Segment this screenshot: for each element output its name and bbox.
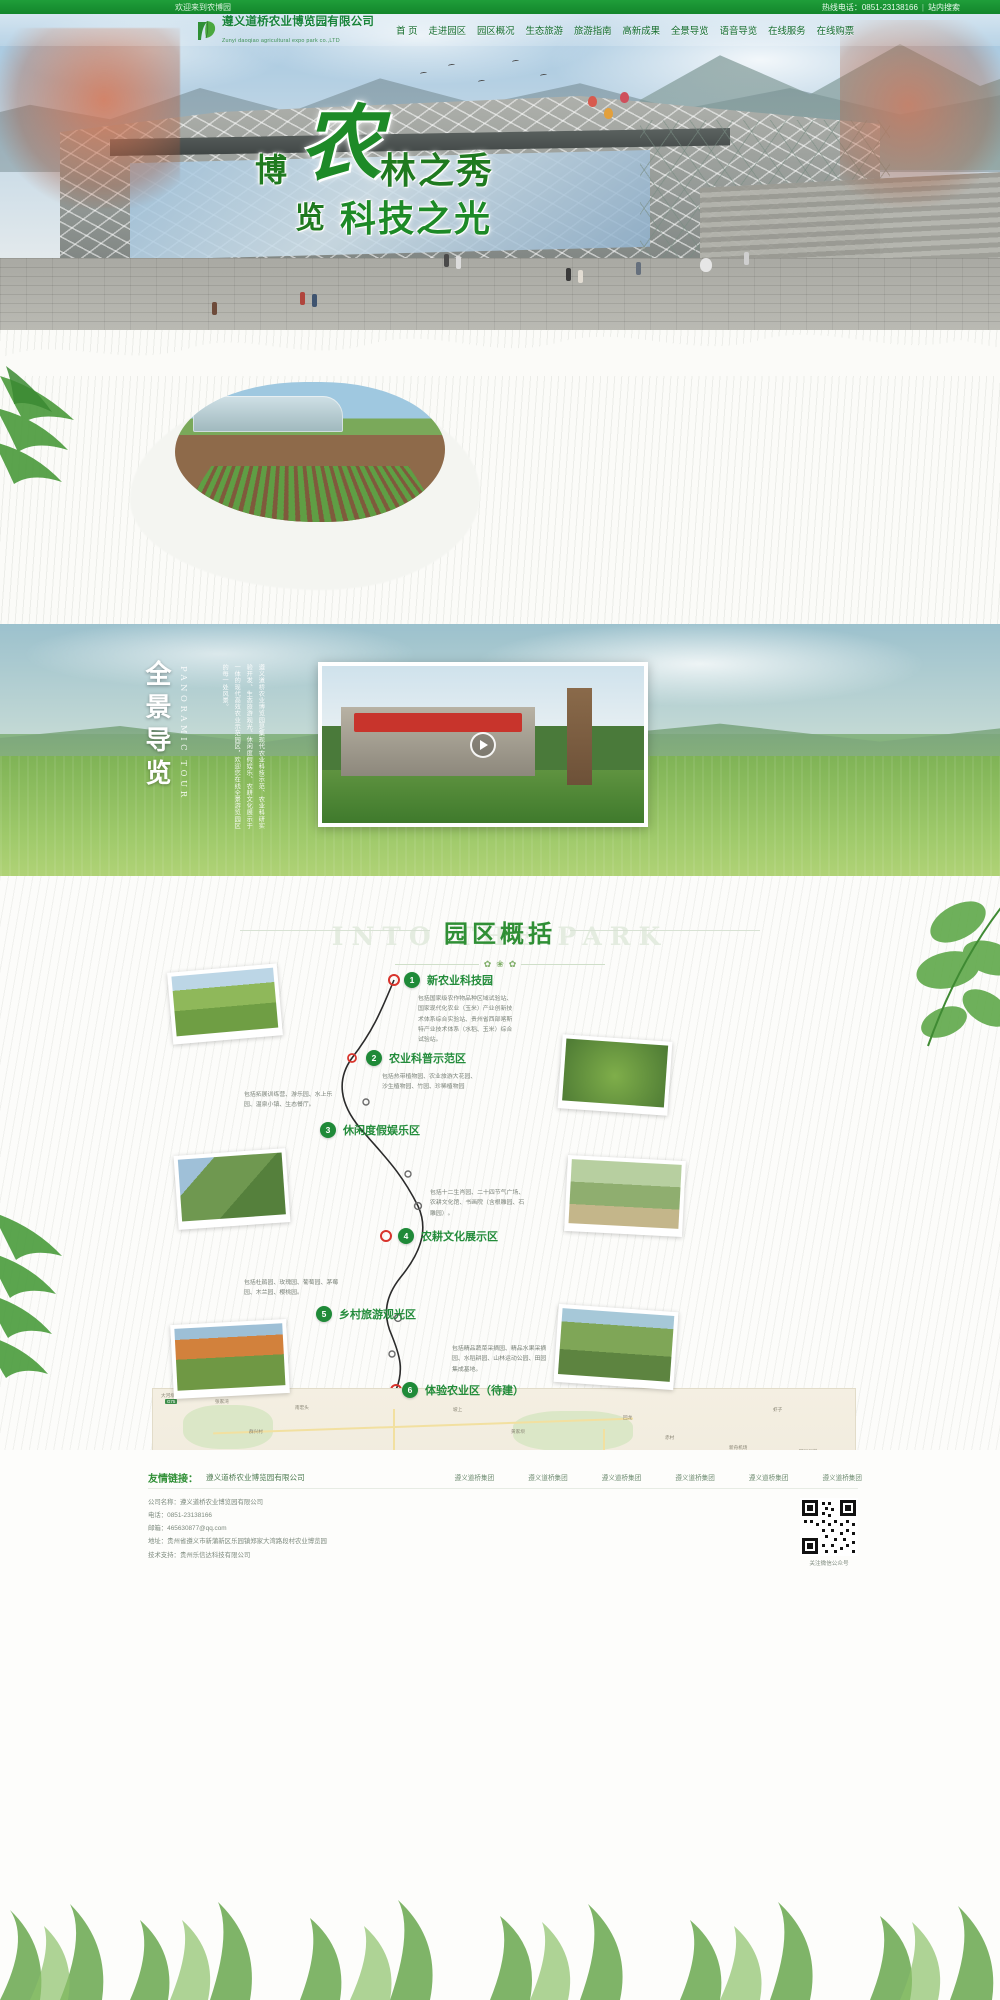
zone-photo-5[interactable]	[170, 1319, 290, 1399]
zone-name-1: 新农业科技园	[427, 972, 493, 988]
zone-number-badge: 2	[366, 1050, 382, 1066]
zone-node-5[interactable]: 5 乡村旅游观光区	[316, 1306, 416, 1322]
site-header: 遵义道桥农业博览园有限公司 Zunyi daoqiao agricultural…	[0, 14, 1000, 46]
visitor-figure	[636, 262, 641, 275]
zone-node-4[interactable]: 4 农耕文化展示区	[398, 1228, 498, 1244]
friendly-links-list: 遵义道桥集团 遵义道桥集团 遵义道桥集团 遵义道桥集团 遵义道桥集团 遵义道桥集…	[148, 1472, 862, 1482]
zone-number-badge: 3	[320, 1122, 336, 1138]
zone-name-5: 乡村旅游观光区	[339, 1306, 416, 1322]
panoramic-title-en: PANORAMIC TOUR	[179, 666, 189, 801]
zone-name-6: 体验农业区（待建）	[425, 1382, 524, 1398]
zone-number-badge: 5	[316, 1306, 332, 1322]
balloon-icon	[588, 96, 597, 107]
topbar-separator: |	[922, 3, 924, 12]
balloon-icon	[620, 92, 629, 103]
nav-item-panoramic[interactable]: 全景导览	[671, 23, 709, 37]
wechat-qr-block: 关注微信公众号	[800, 1498, 858, 1567]
zone-node-6[interactable]: 6 体验农业区（待建）	[402, 1382, 524, 1398]
zone-photo-3[interactable]	[174, 1148, 291, 1230]
footer-info-company: 公司名称：遵义道桥农业博览园有限公司	[148, 1496, 327, 1509]
logo-title-cn: 遵义道桥农业博览园有限公司	[222, 16, 374, 28]
balloon-icon	[604, 108, 613, 119]
friendly-link-5[interactable]: 遵义道桥集团	[749, 1472, 789, 1482]
nav-item-overview[interactable]: 园区概况	[477, 23, 515, 37]
video-red-signboard	[354, 713, 521, 732]
visitor-figure	[312, 294, 317, 307]
footer-divider	[148, 1488, 858, 1489]
hotline-text: 热线电话：0851-23138166	[822, 2, 918, 13]
zone-desc-5: 包括杜鹃园、玫瑰园、葡萄园、茅莓园、木兰园、樱桃园。	[244, 1278, 340, 1299]
nav-item-into-park[interactable]: 走进园区	[428, 23, 466, 37]
nav-item-buy-ticket[interactable]: 在线购票	[817, 23, 855, 37]
map-green-area	[183, 1405, 273, 1449]
friendly-link-3[interactable]: 遵义道桥集团	[602, 1472, 642, 1482]
zone-number-badge: 1	[404, 972, 420, 988]
torn-paper-edge-top	[0, 328, 1000, 376]
visitor-figure	[566, 268, 571, 281]
zone-node-2[interactable]: 2 农业科普示范区	[366, 1050, 466, 1066]
zone-photo-2[interactable]	[558, 1034, 673, 1115]
friendly-link-2[interactable]: 遵义道桥集团	[528, 1472, 568, 1482]
bamboo-grass-decoration	[0, 1890, 1000, 2000]
fern-leaf-decoration-left	[0, 364, 124, 504]
autumn-tree-left	[0, 28, 180, 208]
topbar-right-group: 热线电话：0851-23138166 | 站内搜索	[822, 2, 960, 13]
crop-rows	[175, 466, 445, 522]
photo-image	[178, 1152, 286, 1221]
friendly-link-4[interactable]: 遵义道桥集团	[675, 1472, 715, 1482]
zone-number-badge: 6	[402, 1382, 418, 1398]
photo-image	[174, 1323, 285, 1391]
map-green-area	[513, 1411, 633, 1451]
play-icon[interactable]	[470, 732, 496, 758]
zone-name-3: 休闲度假娱乐区	[343, 1122, 420, 1138]
photo-image	[569, 1159, 682, 1229]
site-footer: 友情链接： 遵义道桥农业博览园有限公司 遵义道桥集团 遵义道桥集团 遵义道桥集团…	[0, 1450, 1000, 2000]
qr-caption: 关注微信公众号	[800, 1559, 858, 1567]
page-root: 博 农 林之秀 览 科技之光 Bo nonglin show to see th…	[0, 0, 1000, 2000]
nav-item-travel-guide[interactable]: 旅游指南	[574, 23, 612, 37]
balloon-icon	[700, 258, 712, 272]
friendly-link-1[interactable]: 遵义道桥集团	[455, 1472, 495, 1482]
nav-item-online-service[interactable]: 在线服务	[768, 23, 806, 37]
panoramic-intro-text: 遵义道桥农业博览园是集现代农业科技示范、农业科研实验开发、生态旅游观光、休闲度假…	[218, 664, 266, 834]
welcome-text: 欢迎来到农博园	[175, 2, 231, 13]
footer-info-address: 地址：贵州省遵义市新蒲新区乐园镇郑家大湾路段村农业博览园	[148, 1535, 327, 1548]
panoramic-title-cn: 全景导览	[138, 660, 175, 801]
footer-info-support: 技术支持：贵州乐信达科技有限公司	[148, 1549, 327, 1562]
visitor-figure	[300, 292, 305, 305]
video-foreground-green	[322, 770, 644, 823]
footer-contact-info: 公司名称：遵义道桥农业博览园有限公司 电话：0851-23138166 邮箱：4…	[148, 1496, 327, 1562]
zone-desc-4: 包括十二生肖园、二十四节气广场、农耕文化馆、书画院（含根雕园、石雕园）。	[430, 1188, 526, 1219]
fern-decoration-left	[0, 1206, 108, 1396]
visitor-figure	[212, 302, 217, 315]
hero-banner	[0, 0, 1000, 340]
visitor-figure	[744, 252, 749, 265]
photo-image	[171, 968, 278, 1037]
zone-desc-6: 包括精品蔬菜采摘园、精品水果采摘园、水稻耕园、山林运动公园、田园集成基地。	[452, 1344, 548, 1375]
leaf-logo-icon	[196, 18, 218, 42]
zone-photo-4[interactable]	[564, 1155, 686, 1237]
video-tower	[567, 688, 593, 785]
logo[interactable]: 遵义道桥农业博览园有限公司 Zunyi daoqiao agricultural…	[196, 13, 374, 47]
building-glass-facade	[130, 150, 650, 260]
panoramic-title-group: 全景导览 PANORAMIC TOUR	[138, 660, 189, 801]
zone-name-2: 农业科普示范区	[389, 1050, 466, 1066]
zone-node-3[interactable]: 3 休闲度假娱乐区	[320, 1122, 420, 1138]
logo-title-en: Zunyi daoqiao agricultural expo park co.…	[222, 38, 340, 44]
nav-item-audio-guide[interactable]: 语音导览	[720, 23, 758, 37]
zone-number-badge: 4	[398, 1228, 414, 1244]
main-navigation: 首 页 走进园区 园区概况 生态旅游 旅游指南 高新成果 全景导览 语音导览 在…	[396, 23, 854, 37]
zone-desc-3: 包括拓展训练营、游乐园、水上乐园、温泉小镇、生态餐厅。	[244, 1090, 340, 1111]
panoramic-tour-section: 全景导览 PANORAMIC TOUR 遵义道桥农业博览园是集现代农业科技示范、…	[0, 624, 1000, 886]
zone-photo-1[interactable]	[167, 963, 283, 1044]
zone-desc-2: 包括热带植物园、农业旅游大花园、沙生植物园、竹园、珍稀植物园	[382, 1072, 478, 1093]
qr-code-icon	[800, 1498, 858, 1556]
greenhouse-structure	[193, 396, 343, 432]
visitor-figure	[456, 256, 461, 269]
zone-photo-6[interactable]	[553, 1304, 678, 1390]
zone-name-4: 农耕文化展示区	[421, 1228, 498, 1244]
footer-info-phone: 电话：0851-23138166	[148, 1509, 327, 1522]
top-utility-bar: 欢迎来到农博园 热线电话：0851-23138166 | 站内搜索	[0, 0, 1000, 14]
nav-item-eco-tourism[interactable]: 生态旅游	[526, 23, 564, 37]
autumn-tree-right	[840, 20, 1000, 210]
site-search-link[interactable]: 站内搜索	[928, 2, 960, 13]
nav-item-home[interactable]: 首 页	[396, 23, 417, 37]
panoramic-video-player[interactable]	[318, 662, 648, 827]
leaf-decoration-right	[840, 886, 1000, 1066]
footer-info-email: 邮箱：465630877@qq.com	[148, 1522, 327, 1535]
logo-text-group: 遵义道桥农业博览园有限公司 Zunyi daoqiao agricultural…	[222, 13, 374, 47]
visitor-figure	[578, 270, 583, 283]
visitor-figure	[444, 254, 449, 267]
photo-image	[562, 1039, 668, 1108]
greenhouse-photo	[175, 382, 445, 522]
map-highway-badge: G75	[165, 1399, 177, 1404]
into-park-section: 食 园区饭店 小吃街 住 园区酒店、宾馆 客栈、露营地 行	[0, 330, 1000, 630]
photo-image	[558, 1308, 674, 1382]
zone-node-1[interactable]: 1 新农业科技园	[404, 972, 493, 988]
nav-item-achievements[interactable]: 高新成果	[623, 23, 661, 37]
friendly-link-6[interactable]: 遵义道桥集团	[822, 1472, 862, 1482]
zone-desc-1: 包括国家级农作物品种区域试验站、国家现代化农业（玉米）产业创新技术体系综合实验站…	[418, 994, 514, 1046]
